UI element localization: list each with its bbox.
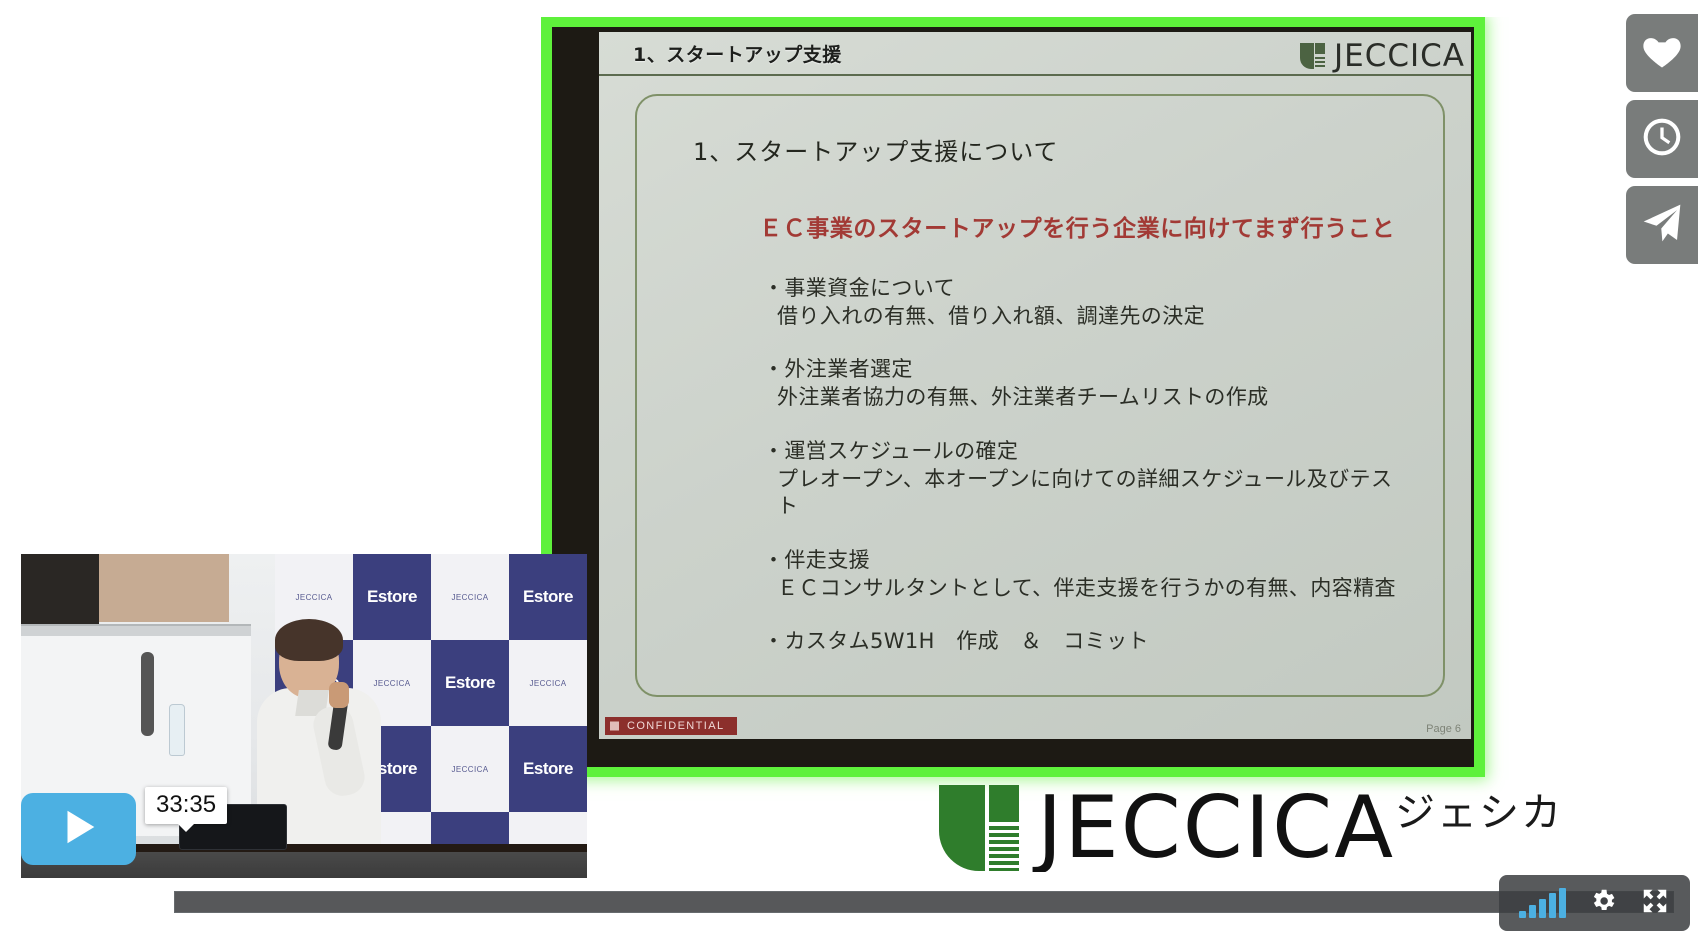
bullet-sub: 借り入れの有無、借り入れ額、調達先の決定: [777, 303, 1413, 331]
watch-later-button[interactable]: [1626, 100, 1698, 178]
backdrop-logo-jeccica: JECCICA: [529, 679, 566, 688]
bullet-main: ・運営スケジュールの確定: [763, 438, 1413, 466]
confidential-badge: CONFIDENTIAL: [605, 717, 737, 735]
settings-button[interactable]: [1588, 886, 1618, 921]
heart-icon: [1640, 29, 1684, 78]
slide-red-line: ＥＣ事業のスタートアップを行う企業に向けてまず行うこと: [759, 209, 1413, 243]
whiteboard-rail: [21, 624, 251, 636]
progress-scrubber[interactable]: [174, 891, 1674, 913]
backdrop-logo-estore: Estore: [523, 587, 573, 607]
water-bottle: [169, 704, 185, 756]
share-button[interactable]: [1626, 186, 1698, 264]
slide-footer: CONFIDENTIAL Page 6: [599, 709, 1471, 739]
paper-plane-icon: [1640, 201, 1684, 250]
slide-bullet-item: ・外注業者選定 外注業者協力の有無、外注業者チームリストの作成: [763, 356, 1413, 411]
wall-panel-beige: [99, 554, 229, 622]
slide-bullet-item: ・カスタム5W1H 作成 ＆ コミット: [763, 628, 1413, 656]
slide-brand-top-text: JECCICA: [1334, 38, 1465, 74]
backdrop-logo-jeccica: JECCICA: [295, 593, 332, 602]
right-control-group: [1499, 875, 1690, 931]
jeccica-logo-icon: [1300, 43, 1325, 69]
gear-icon: [1588, 886, 1618, 921]
bullet-sub: ＥＣコンサルタントとして、伴走支援を行うかの有無、内容精査: [777, 575, 1413, 603]
jeccica-brand-lockup: JECCICA: [939, 785, 1395, 871]
slide-heading: 1、スタートアップ支援について: [693, 132, 1413, 167]
clock-icon: [1640, 115, 1684, 164]
backdrop-logo-estore: Estore: [523, 759, 573, 779]
backdrop-logo-jeccica: JECCICA: [451, 593, 488, 602]
fullscreen-icon: [1640, 886, 1670, 921]
slide-bullet-item: ・運営スケジュールの確定 プレオープン、本オープンに向けての詳細スケジュール及び…: [763, 438, 1413, 521]
bullet-sub: プレオープン、本オープンに向けての詳細スケジュール及びテスト: [777, 466, 1413, 521]
jeccica-brand-kana: ジェシカ: [1395, 780, 1563, 838]
bullet-main: ・事業資金について: [763, 275, 1413, 303]
bullet-sub: 外注業者協力の有無、外注業者チームリストの作成: [777, 384, 1413, 412]
wall-panel-dark: [21, 554, 99, 626]
favorite-button[interactable]: [1626, 14, 1698, 92]
slide-bullet-list: ・事業資金について 借り入れの有無、借り入れ額、調達先の決定 ・外注業者選定 外…: [763, 275, 1413, 656]
projected-slide: 1、スタートアップ支援 JECCICA 1、スタートアップ支援について ＥＣ事業…: [599, 32, 1471, 739]
backdrop-logo-estore: Estore: [367, 587, 417, 607]
slide-bullet-item: ・事業資金について 借り入れの有無、借り入れ額、調達先の決定: [763, 275, 1413, 330]
microphone-stand: [141, 652, 154, 736]
slide-stage: 1、スタートアップ支援 JECCICA 1、スタートアップ支援について ＥＣ事業…: [541, 17, 1698, 872]
jeccica-logo-icon: [939, 785, 1019, 871]
bullet-main: ・伴走支援: [763, 547, 1413, 575]
bullet-main: ・カスタム5W1H 作成 ＆ コミット: [763, 628, 1413, 656]
backdrop-logo-estore: Estore: [445, 673, 495, 693]
slide-content-panel: 1、スタートアップ支援について ＥＣ事業のスタートアップを行う企業に向けてまず行…: [635, 94, 1445, 697]
signal-bars-icon: [1519, 888, 1566, 918]
jeccica-brand-text: JECCICA: [1037, 785, 1395, 871]
highlight-frame: 1、スタートアップ支援 JECCICA 1、スタートアップ支援について ＥＣ事業…: [541, 17, 1485, 777]
player-control-bar: [150, 873, 1698, 931]
slide-header: 1、スタートアップ支援 JECCICA: [599, 32, 1471, 76]
projector-bezel: 1、スタートアップ支援 JECCICA 1、スタートアップ支援について ＥＣ事業…: [552, 27, 1474, 767]
backdrop-logo-jeccica: JECCICA: [451, 765, 488, 774]
play-icon: [56, 804, 102, 855]
play-button[interactable]: [21, 793, 136, 865]
action-rail: [1626, 14, 1698, 264]
time-tooltip: 33:35: [145, 787, 227, 824]
slide-header-title: 1、スタートアップ支援: [633, 40, 842, 67]
slide-page-number: Page 6: [1426, 723, 1461, 735]
fullscreen-button[interactable]: [1640, 886, 1670, 921]
slide-brand-top: JECCICA: [1300, 38, 1465, 74]
slide-bullet-item: ・伴走支援 ＥＣコンサルタントとして、伴走支援を行うかの有無、内容精査: [763, 547, 1413, 602]
video-player: 1、スタートアップ支援 JECCICA 1、スタートアップ支援について ＥＣ事業…: [0, 0, 1698, 948]
quality-button[interactable]: [1519, 888, 1566, 918]
bullet-main: ・外注業者選定: [763, 356, 1413, 384]
